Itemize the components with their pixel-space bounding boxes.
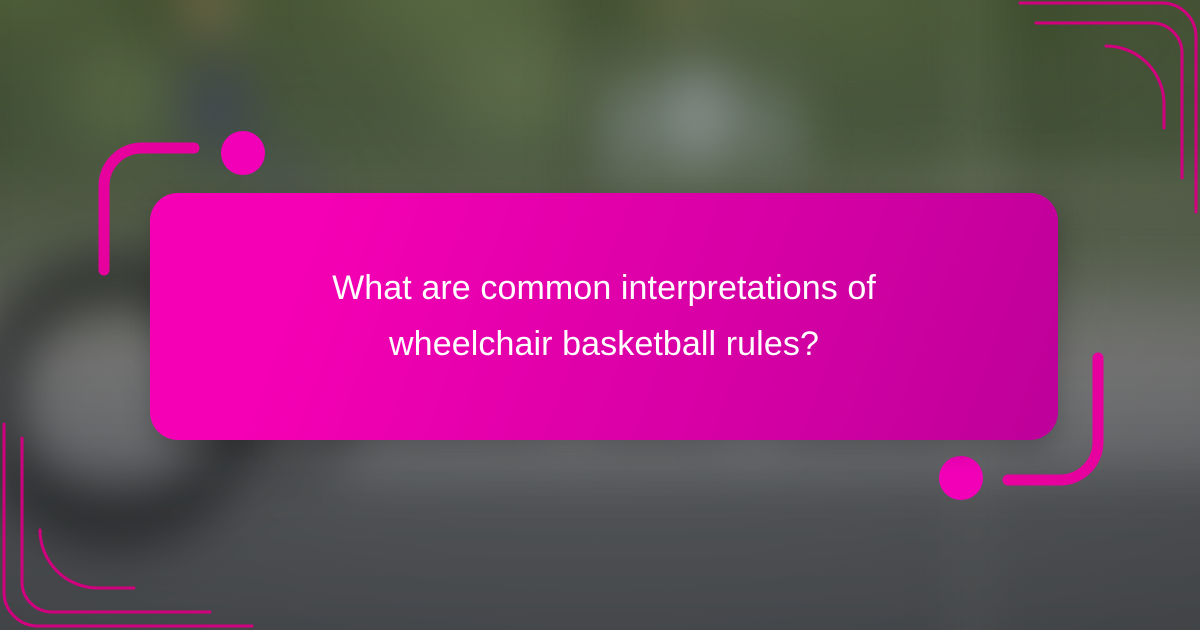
question-text: What are common interpretations of wheel… <box>274 261 934 371</box>
social-card-canvas: What are common interpretations of wheel… <box>0 0 1200 630</box>
question-card: What are common interpretations of wheel… <box>150 193 1058 440</box>
accent-dot-top-left <box>221 131 265 175</box>
accent-dot-bottom-right <box>939 456 983 500</box>
